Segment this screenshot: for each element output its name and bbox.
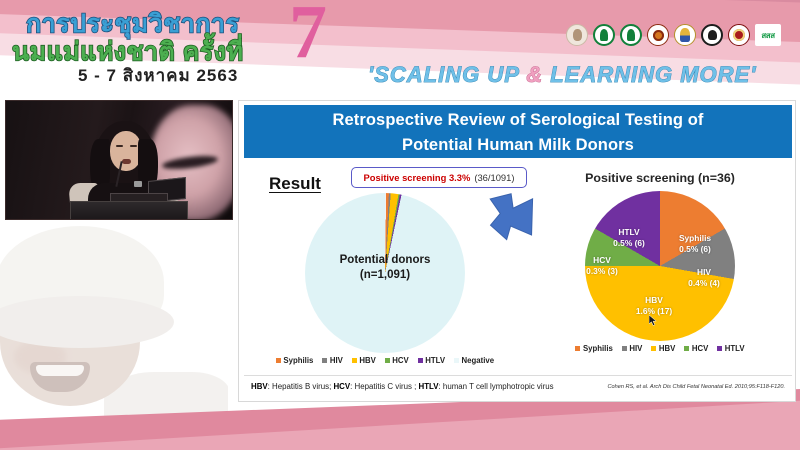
legend2-label-syphilis: Syphilis xyxy=(583,344,613,353)
footnote-htlv-def: : human T cell lymphotropic virus xyxy=(439,382,554,391)
abbreviation-footnote: HBV: Hepatitis B virus; HCV: Hepatitis C… xyxy=(251,382,554,391)
baby-teeth xyxy=(36,365,84,376)
positive-screening-callout: Positive screening 3.3% (36/1091) xyxy=(351,167,527,188)
legend2-item-htlv[interactable]: HTLV xyxy=(717,344,744,353)
slice-label-htlv: HTLV 0.5% (6) xyxy=(605,227,653,248)
footnote-hbv-key: HBV xyxy=(251,382,268,391)
speaker-eye-left xyxy=(116,145,123,147)
logo-nursing-council-icon xyxy=(593,24,615,46)
tagline-part2: LEARNING MORE' xyxy=(543,62,756,87)
potential-donors-center-label: Potential donors (n=1,091) xyxy=(305,253,465,283)
baby-hat-brim xyxy=(0,296,174,348)
legend-label-negative: Negative xyxy=(462,356,495,365)
legend-item-htlv[interactable]: HTLV xyxy=(418,356,445,365)
slice-name-syphilis: Syphilis xyxy=(668,233,722,244)
legend-label-hiv: HIV xyxy=(330,356,343,365)
slide-title-line1: Retrospective Review of Serological Test… xyxy=(244,108,792,133)
slice-pct-htlv: 0.5% (6) xyxy=(605,238,653,249)
legend2-item-syphilis[interactable]: Syphilis xyxy=(575,344,612,353)
legend2-label-hiv: HIV xyxy=(629,344,642,353)
legend-label-htlv: HTLV xyxy=(425,356,445,365)
footnote-hbv-def: : Hepatitis B virus; xyxy=(268,382,334,391)
conference-edition-number: 7 xyxy=(289,0,327,70)
slide-footnote-bar: HBV: Hepatitis B virus; HCV: Hepatitis C… xyxy=(244,375,792,397)
logo-royal-college-icon xyxy=(728,24,750,46)
legend-label-syphilis: Syphilis xyxy=(283,356,313,365)
logo-thaihealth-icon: สสส xyxy=(755,24,781,46)
speaker-video-feed[interactable] xyxy=(5,100,233,220)
legend-label-hbv: HBV xyxy=(359,356,375,365)
logo-ministry-public-health-icon xyxy=(674,24,696,46)
slice-pct-syphilis: 0.5% (6) xyxy=(668,244,722,255)
legend-item-negative[interactable]: Negative xyxy=(454,356,494,365)
speaker-badge xyxy=(134,181,142,187)
legend-item-hiv[interactable]: HIV xyxy=(322,356,343,365)
logo-thaihealth-label: สสส xyxy=(761,29,774,42)
slice-label-hbv: HBV 1.6% (17) xyxy=(623,295,685,316)
logo-garuda-icon xyxy=(701,24,723,46)
legend-item-syphilis[interactable]: Syphilis xyxy=(276,356,313,365)
legend2-item-hbv[interactable]: HBV xyxy=(651,344,675,353)
slice-name-hcv: HCV xyxy=(581,255,623,266)
slice-label-hiv: HIV 0.4% (4) xyxy=(681,267,727,288)
baby-watermark-image xyxy=(0,222,228,427)
presentation-slide[interactable]: Retrospective Review of Serological Test… xyxy=(238,100,796,402)
slice-pct-hiv: 0.4% (4) xyxy=(681,278,727,289)
potential-donors-legend: Syphilis HIV HBV HCV HTLV Negative xyxy=(251,356,519,365)
footnote-htlv-key: HTLV xyxy=(419,382,439,391)
potential-donors-label-line1: Potential donors xyxy=(305,253,465,268)
sponsor-logo-row: สสส xyxy=(566,24,781,46)
logo-princess-mother-foundation-icon xyxy=(566,24,588,46)
positive-screening-chart[interactable]: Positive screening (n=36) Syphilis 0.5% … xyxy=(529,171,791,377)
tagline-part1: 'SCALING UP xyxy=(368,62,526,87)
legend2-label-hbv: HBV xyxy=(659,344,675,353)
slice-name-htlv: HTLV xyxy=(605,227,653,238)
slice-pct-hcv: 0.3% (3) xyxy=(581,266,623,277)
logo-royal-emblem-icon xyxy=(647,24,669,46)
slice-name-hiv: HIV xyxy=(681,267,727,278)
speaker-eye-right xyxy=(130,145,137,147)
potential-donors-label-line2: (n=1,091) xyxy=(305,268,465,283)
callout-sub-text: (36/1091) xyxy=(474,172,514,183)
citation-reference: Cohen RS, et al. Arch Dis Child Fetal Ne… xyxy=(607,384,785,390)
slice-label-syphilis: Syphilis 0.5% (6) xyxy=(668,233,722,254)
legend-item-hbv[interactable]: HBV xyxy=(352,356,376,365)
callout-main-text: Positive screening 3.3% xyxy=(364,172,471,183)
conference-date: 5 - 7 สิงหาคม 2563 xyxy=(78,62,238,89)
slide-title-line2: Potential Human Milk Donors xyxy=(244,133,792,158)
slice-label-hcv: HCV 0.3% (3) xyxy=(581,255,623,276)
conference-header-banner: การประชุมวิชาการ นมแม่แห่งชาติ ครั้งที่ … xyxy=(0,0,800,95)
tagline-ampersand: & xyxy=(526,62,543,87)
logo-health-department-icon xyxy=(620,24,642,46)
footnote-hcv-key: HCV xyxy=(333,382,350,391)
conference-tagline: 'SCALING UP & LEARNING MORE' xyxy=(368,62,756,88)
legend2-item-hcv[interactable]: HCV xyxy=(684,344,708,353)
legend2-label-htlv: HTLV xyxy=(725,344,745,353)
potential-donors-chart[interactable]: Potential donors (n=1,091) Syphilis HIV … xyxy=(251,189,519,377)
podium xyxy=(70,201,188,220)
potential-donors-pie-wrap: Potential donors (n=1,091) xyxy=(305,193,465,353)
mouse-cursor-icon xyxy=(649,315,657,326)
positive-screening-pie-wrap: Syphilis 0.5% (6) HIV 0.4% (4) HBV 1.6% … xyxy=(585,191,735,341)
legend2-item-hiv[interactable]: HIV xyxy=(622,344,643,353)
legend2-label-hcv: HCV xyxy=(692,344,708,353)
footnote-hcv-def: : Hepatitis C virus ; xyxy=(350,382,418,391)
positive-screening-legend: Syphilis HIV HBV HCV HTLV xyxy=(529,344,791,353)
legend-item-hcv[interactable]: HCV xyxy=(385,356,409,365)
speaker-mouth xyxy=(122,159,131,164)
positive-screening-title: Positive screening (n=36) xyxy=(529,171,791,185)
slice-name-hbv: HBV xyxy=(623,295,685,306)
slide-title: Retrospective Review of Serological Test… xyxy=(244,105,792,158)
legend-label-hcv: HCV xyxy=(392,356,408,365)
